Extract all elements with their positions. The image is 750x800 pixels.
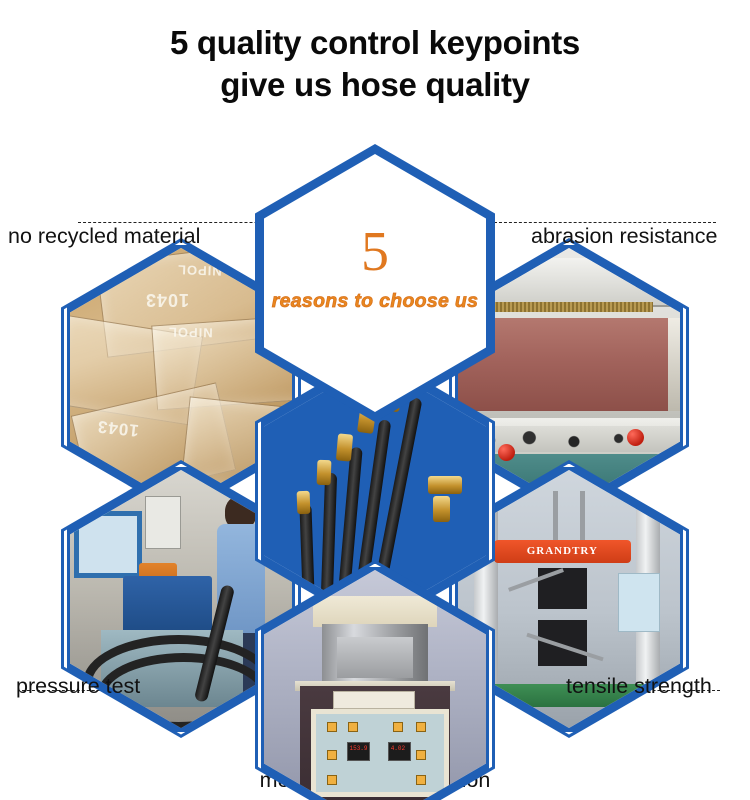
connector-line-top-right xyxy=(494,222,716,223)
rheometer-display-right: 4.02 xyxy=(388,742,411,761)
machine-brand-label: GRANDTRY xyxy=(494,540,632,563)
center-tagline: reasons to choose us xyxy=(264,290,486,313)
hex-inner-center: 5 reasons to choose us xyxy=(264,154,486,412)
machine-nameplate xyxy=(333,691,415,708)
center-number: 5 xyxy=(264,224,486,280)
label-tensile-strength: tensile strength xyxy=(566,676,712,698)
title-line-1: 5 quality control keypoints xyxy=(0,22,750,64)
rheometer-value-right: 4.02 xyxy=(391,745,405,752)
label-abrasion-resistance: abrasion resistance xyxy=(531,226,717,248)
rheometer-display-left: 153.9 xyxy=(347,742,370,761)
machine-brand-banner: GRANDTRY xyxy=(494,540,632,563)
label-pressure-test: pressure test xyxy=(16,676,140,698)
infographic-canvas: 5 quality control keypoints give us hose… xyxy=(0,0,750,800)
title-line-2: give us hose quality xyxy=(0,64,750,106)
label-no-recycled-material: no recycled material xyxy=(8,226,200,248)
machine-knob-left xyxy=(498,444,515,461)
page-title: 5 quality control keypoints give us hose… xyxy=(0,22,750,106)
rheometer-value-left: 153.9 xyxy=(350,745,368,752)
machine-knob-right xyxy=(627,429,644,446)
